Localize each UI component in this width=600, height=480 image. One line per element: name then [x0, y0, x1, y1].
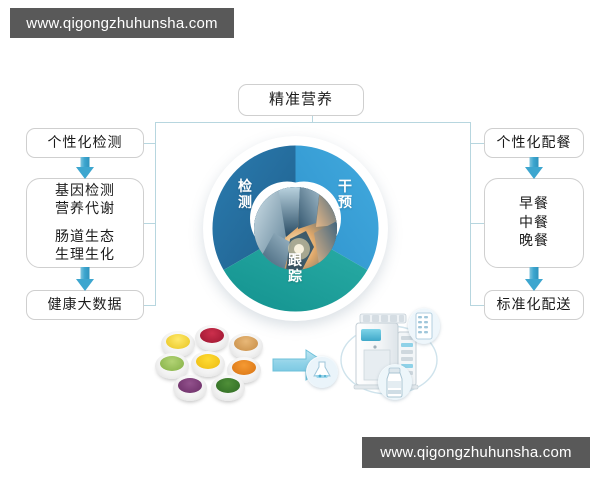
label-text: 检测	[238, 179, 252, 211]
connector-right-stub-3	[470, 305, 484, 306]
down-arrow-icon-right-1	[525, 157, 543, 179]
down-arrow-icon-right-2	[525, 267, 543, 291]
arrow-head	[525, 279, 543, 291]
node-label: 个性化配餐	[497, 134, 572, 152]
node-testing-details[interactable]: 基因检测 营养代谢 肠道生态 生理生化	[26, 178, 144, 268]
callout-bubble-capsules	[408, 308, 440, 344]
node-label-line-3: 肠道生态	[55, 228, 115, 246]
arrow-head	[525, 167, 543, 179]
arrow-head	[76, 167, 94, 179]
dispensing-machine-image	[330, 312, 448, 400]
node-label: 个性化检测	[48, 134, 123, 152]
connector-top-spine	[155, 122, 471, 123]
connector-left-spine	[155, 122, 156, 306]
node-label-line-1: 早餐	[519, 195, 549, 213]
powder-3	[234, 336, 258, 351]
bowl-3	[229, 333, 263, 359]
bowl-5	[191, 351, 225, 377]
node-precision-nutrition[interactable]: 精准营养	[238, 84, 364, 116]
watermark-bottom: www.qigongzhuhunsha.com	[362, 437, 590, 468]
down-arrow-icon-left-2	[76, 267, 94, 291]
node-label-line-4: 生理生化	[55, 246, 115, 264]
node-health-big-data[interactable]: 健康大数据	[26, 290, 144, 320]
node-label-line-2: 营养代谢	[55, 200, 115, 218]
node-label-line-3: 晚餐	[519, 232, 549, 250]
connector-right-stub-1	[470, 143, 484, 144]
down-arrow-icon-left-1	[76, 157, 94, 179]
cycle-donut-chart: 检测 干预 跟踪	[203, 158, 388, 298]
donut-label-detect: 检测	[234, 180, 256, 211]
bowl-7	[173, 375, 207, 401]
node-label: 精准营养	[269, 90, 333, 110]
label-text: 跟踪	[288, 253, 302, 285]
powder-6	[232, 360, 256, 375]
donut-label-track: 跟踪	[284, 254, 306, 285]
connector-left-stub-3	[144, 305, 156, 306]
bowl-8	[211, 375, 245, 401]
node-label-line-1: 基因检测	[55, 182, 115, 200]
node-personalized-meal-plan[interactable]: 个性化配餐	[484, 128, 584, 158]
powder-7	[178, 378, 202, 393]
connector-left-stub-1	[144, 143, 156, 144]
node-label: 标准化配送	[497, 296, 572, 314]
connector-right-spine	[470, 122, 471, 306]
label-text: 干预	[338, 179, 352, 211]
node-label-line-2: 中餐	[519, 214, 549, 232]
callout-bubble-lab	[306, 356, 338, 388]
powder-1	[166, 334, 190, 349]
arrow-head	[76, 279, 94, 291]
connector-left-stub-2	[144, 223, 156, 224]
powder-5	[196, 354, 220, 369]
diagram-canvas: www.qigongzhuhunsha.com www.qigongzhuhun…	[0, 0, 600, 480]
node-meal-details[interactable]: 早餐 中餐 晚餐	[484, 178, 584, 268]
powder-2	[200, 328, 224, 343]
powder-8	[216, 378, 240, 393]
powder-4	[160, 356, 184, 371]
node-label: 健康大数据	[48, 296, 123, 314]
connector-right-stub-2	[470, 223, 484, 224]
donut-label-intervene: 干预	[334, 180, 356, 211]
node-standardized-delivery[interactable]: 标准化配送	[484, 290, 584, 320]
callout-bubble-bottle	[378, 364, 412, 400]
powder-bowls-image	[155, 325, 267, 401]
bowl-2	[195, 325, 229, 351]
node-personalized-testing[interactable]: 个性化检测	[26, 128, 144, 158]
watermark-top: www.qigongzhuhunsha.com	[10, 8, 234, 38]
